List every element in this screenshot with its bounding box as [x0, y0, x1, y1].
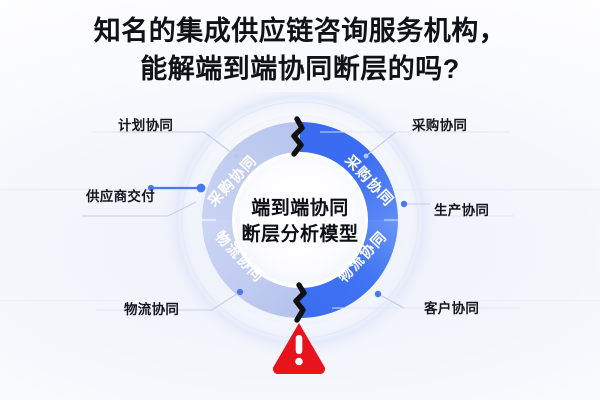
- page-title: 知名的集成供应链咨询服务机构， 能解端到端协同断层的吗?: [0, 12, 600, 88]
- callout-label-plan: 计划协同: [118, 114, 173, 134]
- callout-label-customer: 客户协同: [424, 297, 479, 317]
- callout-label-production: 生产协同: [434, 199, 489, 219]
- callout-label-logistics: 物流协同: [124, 298, 179, 318]
- ring-seam-right: [384, 219, 399, 221]
- callout-label-supplier: 供应商交付: [86, 185, 155, 205]
- donut-diagram: 采购协同 采购协同 物流协同 物流协同: [0, 92, 600, 400]
- ring-seam-left: [201, 219, 216, 221]
- callout-label-purchase: 采购协同: [412, 114, 467, 134]
- infographic-canvas: 知名的集成供应链咨询服务机构， 能解端到端协同断层的吗?: [0, 0, 600, 400]
- title-line-2: 能解端到端协同断层的吗?: [0, 50, 600, 88]
- title-line-1: 知名的集成供应链咨询服务机构，: [0, 12, 600, 50]
